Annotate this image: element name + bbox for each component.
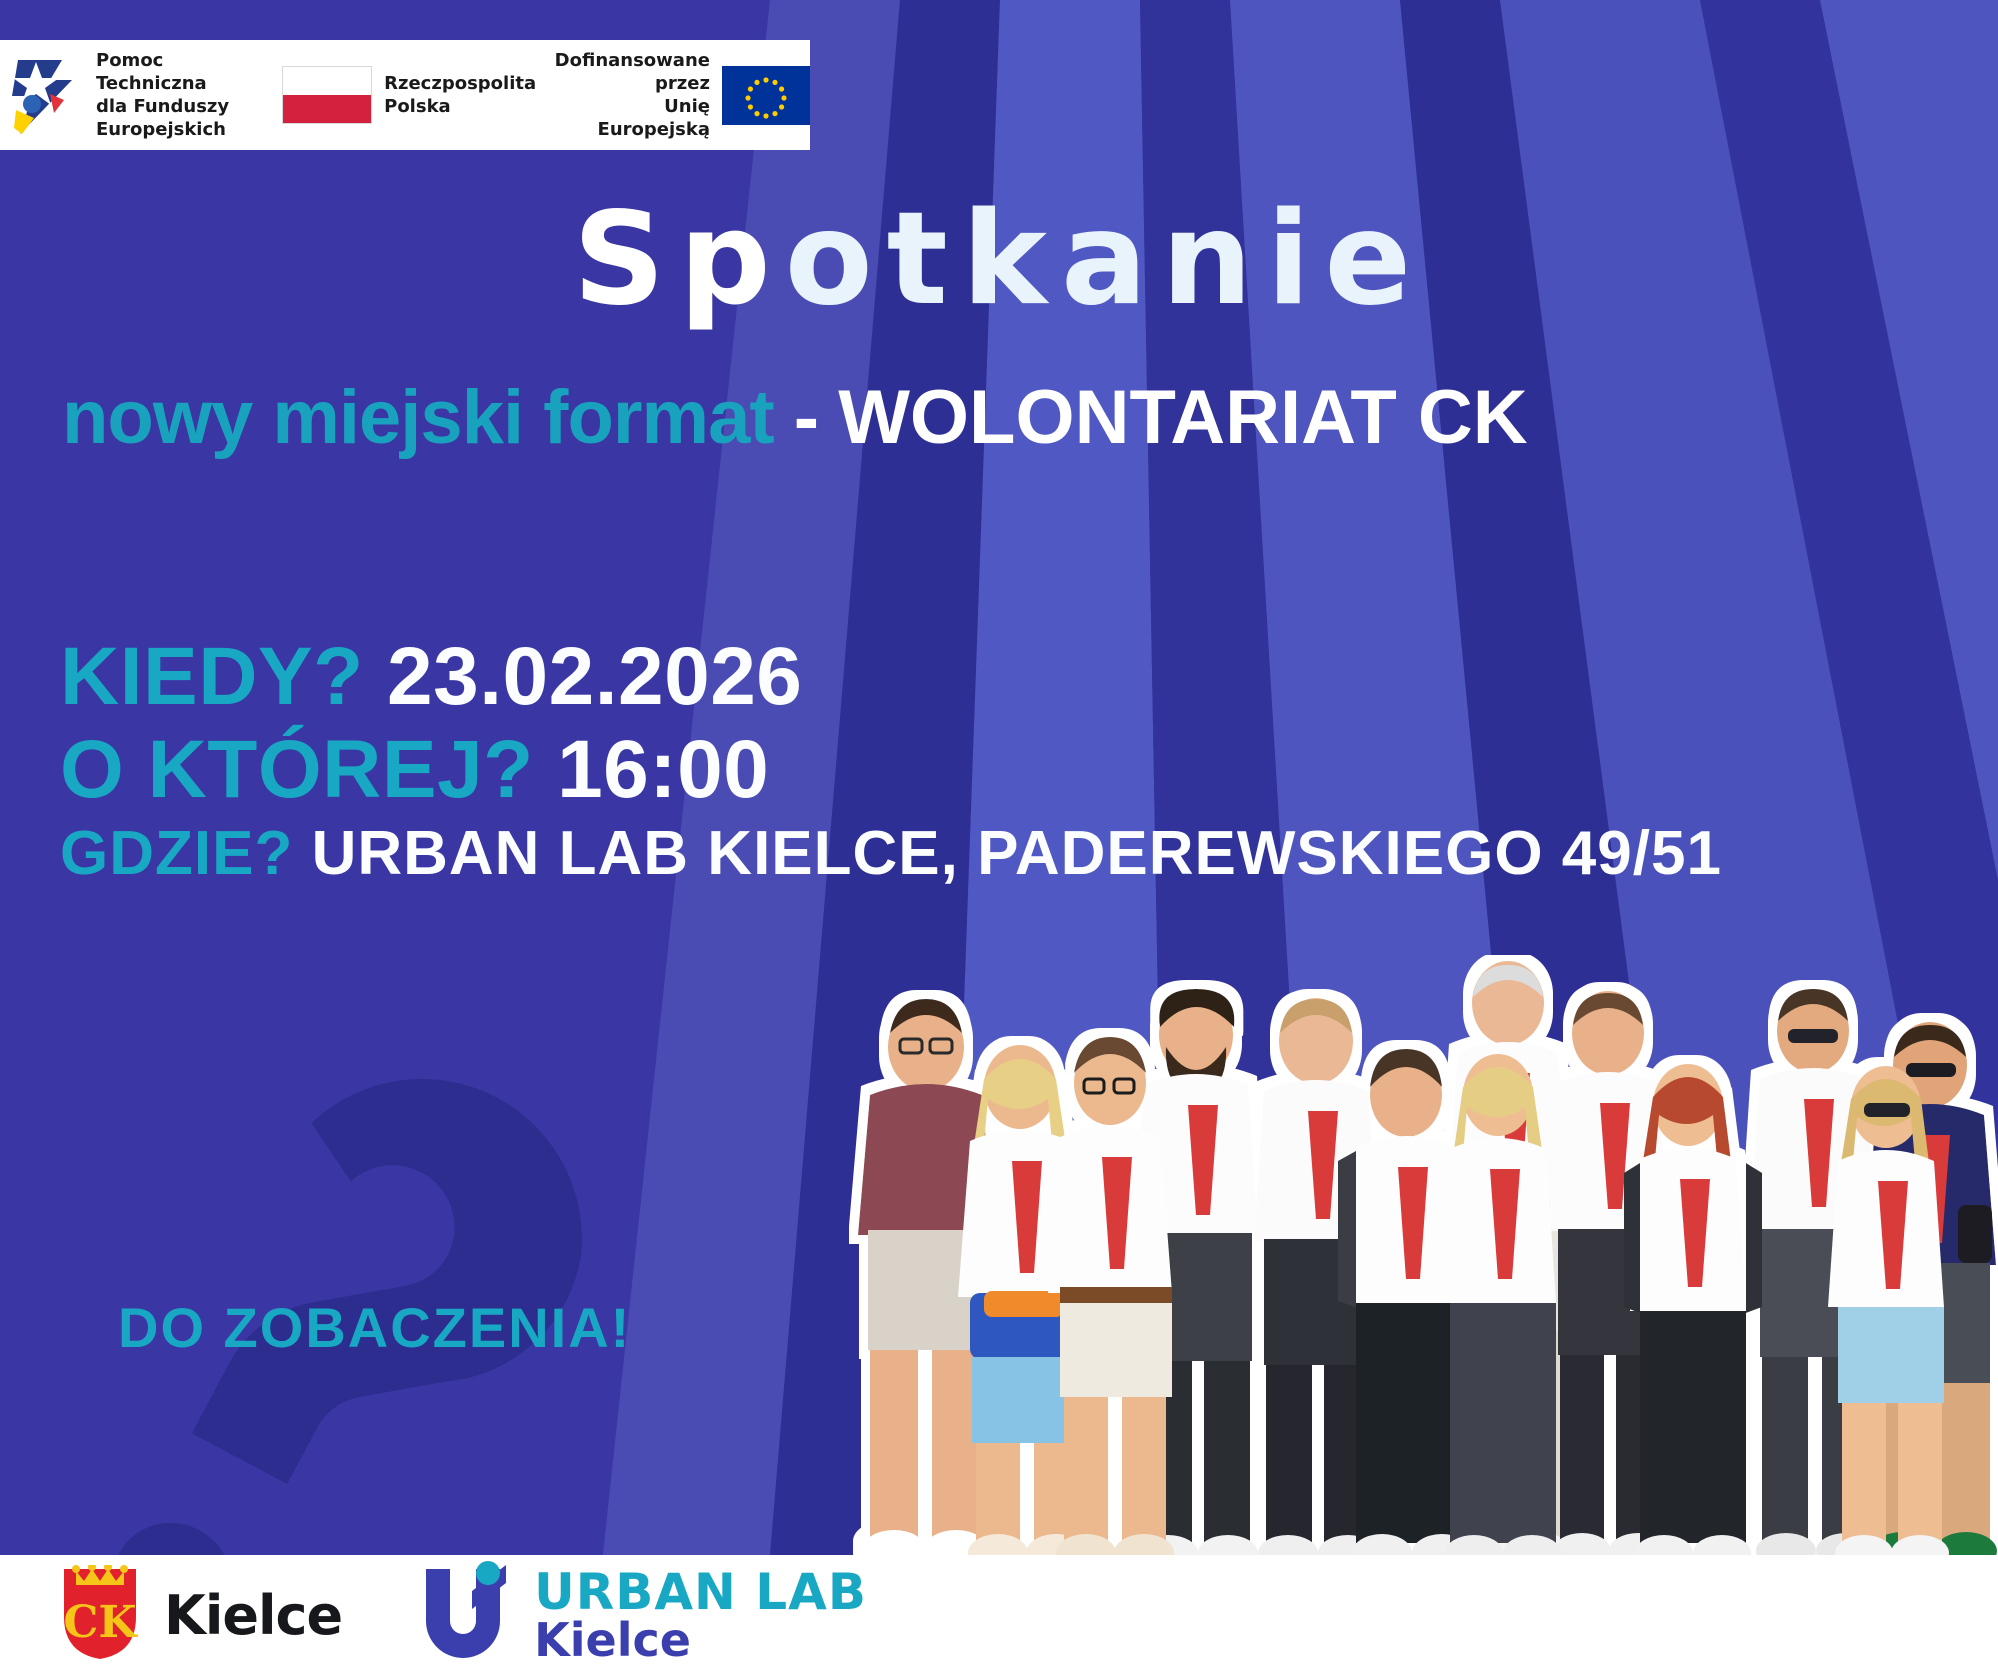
event-details: KIEDY? 23.02.2026 O KTÓREJ? 16:00 GDZIE?… bbox=[60, 630, 1722, 891]
kielce-logo: CK Kielce bbox=[58, 1565, 342, 1666]
kielce-shield-svg: CK bbox=[58, 1565, 142, 1661]
detail-value-time: 16:00 bbox=[557, 724, 769, 815]
fundusze-europejskie-logo bbox=[10, 54, 84, 136]
poster-content: Spotkanie nowy miejski format - WOLONTAR… bbox=[0, 0, 1998, 1675]
funding-text-pl: Rzeczpospolita Polska bbox=[384, 72, 536, 118]
kielce-coat-of-arms-icon: CK bbox=[58, 1565, 142, 1666]
urban-lab-line2: Kielce bbox=[534, 1617, 867, 1663]
kielce-wordmark: Kielce bbox=[164, 1584, 342, 1647]
subtitle: nowy miejski format - WOLONTARIAT CK bbox=[62, 380, 1528, 456]
detail-label-gdzie: GDZIE? bbox=[60, 819, 293, 888]
urban-lab-logo: URBAN LAB Kielce bbox=[410, 1561, 867, 1670]
detail-label-oktorej: O KTÓREJ? bbox=[60, 724, 534, 815]
bottom-logo-bar: CK Kielce URBAN LAB Kielce bbox=[0, 1555, 1998, 1675]
detail-value-place: URBAN LAB KIELCE, PADEREWSKIEGO 49/51 bbox=[312, 819, 1722, 888]
detail-row-time: O KTÓREJ? 16:00 bbox=[60, 723, 1722, 816]
funding-text-fe: Pomoc Techniczna dla Funduszy Europejski… bbox=[96, 49, 264, 141]
farewell-text: DO ZOBACZENIA! bbox=[118, 1295, 631, 1360]
urban-lab-line1: URBAN LAB bbox=[534, 1567, 867, 1617]
title-lead: Sp bbox=[573, 185, 785, 334]
urban-lab-wordmark: URBAN LAB Kielce bbox=[534, 1567, 867, 1663]
urban-lab-u-icon bbox=[410, 1561, 516, 1670]
subtitle-dash: - bbox=[774, 375, 839, 460]
fe-logo-svg bbox=[10, 54, 84, 136]
detail-row-date: KIEDY? 23.02.2026 bbox=[60, 630, 1722, 723]
detail-row-place: GDZIE? URBAN LAB KIELCE, PADEREWSKIEGO 4… bbox=[60, 817, 1722, 891]
funding-item-eu: Dofinansowane przez Unię Europejską bbox=[555, 40, 810, 150]
title-rest: otkanie bbox=[785, 185, 1425, 334]
eu-flag-icon bbox=[722, 66, 810, 125]
funding-item-pl: Rzeczpospolita Polska bbox=[282, 40, 536, 150]
page-title: Spotkanie bbox=[0, 196, 1998, 324]
subtitle-teal-part: nowy miejski format bbox=[62, 375, 774, 460]
poster-root: Pomoc Techniczna dla Funduszy Europejski… bbox=[0, 0, 1998, 1675]
funding-logos-bar: Pomoc Techniczna dla Funduszy Europejski… bbox=[0, 40, 810, 150]
subtitle-caps-part: WOLONTARIAT CK bbox=[838, 375, 1528, 460]
eu-flag-svg bbox=[722, 66, 810, 125]
detail-value-date: 23.02.2026 bbox=[387, 631, 802, 722]
urban-lab-u-svg bbox=[410, 1561, 516, 1665]
detail-label-kiedy: KIEDY? bbox=[60, 631, 364, 722]
svg-text:CK: CK bbox=[63, 1597, 138, 1648]
funding-text-eu: Dofinansowane przez Unię Europejską bbox=[555, 49, 710, 141]
funding-item-fe: Pomoc Techniczna dla Funduszy Europejski… bbox=[10, 40, 264, 150]
poland-flag-icon bbox=[282, 66, 372, 124]
